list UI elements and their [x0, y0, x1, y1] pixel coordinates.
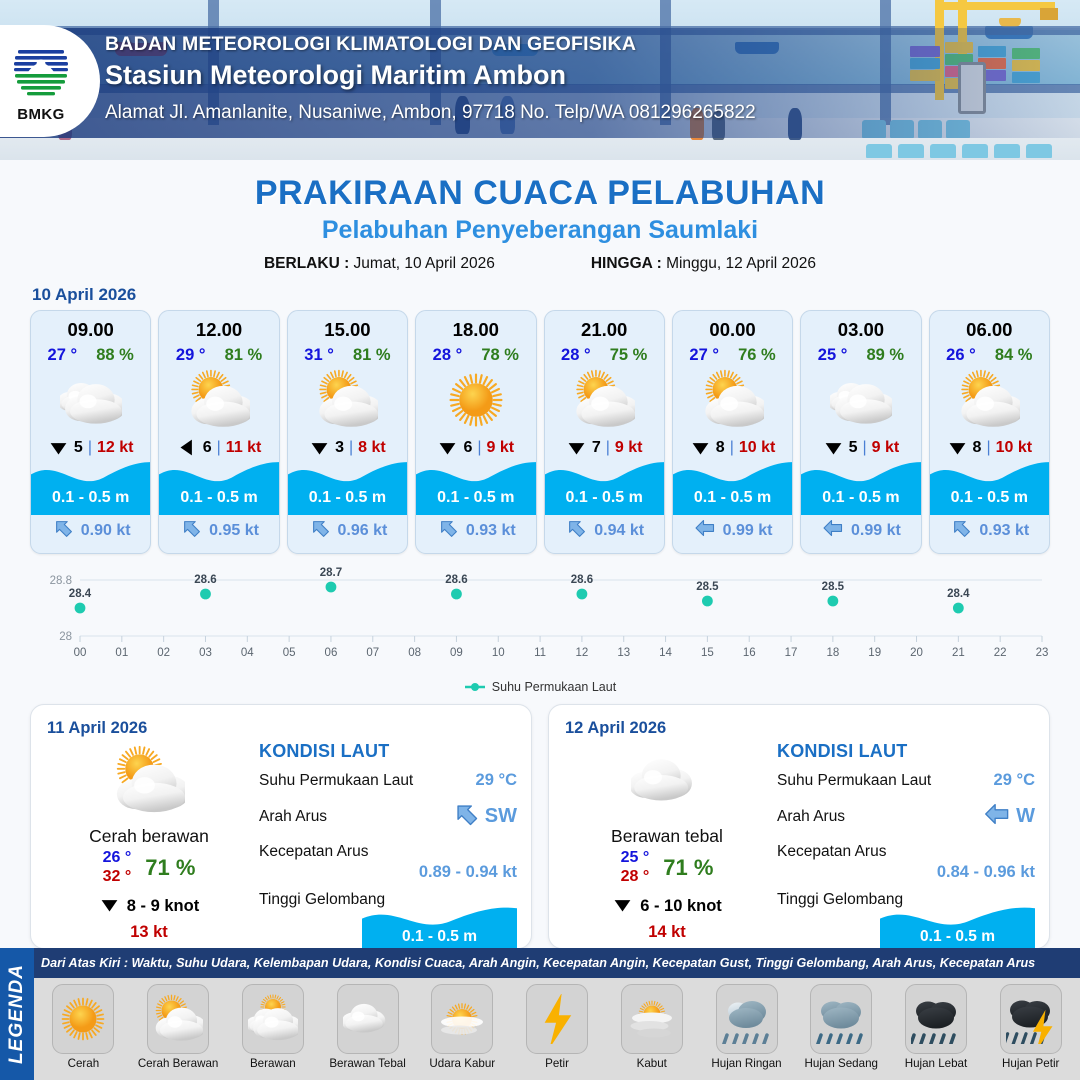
- daily-date: 12 April 2026: [565, 719, 1033, 738]
- hourly-card: 18.00 28 ° 78 % 6 | 9 kt: [415, 310, 536, 554]
- card-current-speed: 0.90 kt: [81, 522, 131, 540]
- card-temperature: 28 °: [561, 346, 591, 365]
- svg-text:28.4: 28.4: [69, 588, 92, 600]
- svg-text:00: 00: [74, 647, 87, 659]
- sst-label: Suhu Permukaan Laut: [777, 772, 931, 790]
- legend-item-label: Hujan Sedang: [804, 1057, 878, 1070]
- card-wind-speed: 7: [592, 439, 601, 457]
- svg-text:07: 07: [366, 647, 379, 659]
- card-temperature: 28 °: [433, 346, 463, 365]
- current-direction-arrow-icon: [693, 516, 717, 545]
- daily-temp-column: 25 ° 28 °: [621, 849, 650, 887]
- card-temperature: 31 °: [304, 346, 334, 365]
- berlaku-value: Jumat, 10 April 2026: [354, 255, 495, 272]
- legend-item: Cerah: [36, 984, 131, 1070]
- svg-text:20: 20: [910, 647, 923, 659]
- sst-chart-legend: Suhu Permukaan Laut: [0, 680, 1080, 694]
- svg-text:10: 10: [492, 647, 505, 659]
- card-weather-berawan-icon: [801, 369, 920, 431]
- current-speed-label: Kecepatan Arus: [259, 843, 368, 861]
- hourly-card: 00.00 27 ° 76 % 8: [672, 310, 793, 554]
- daily-sea-conditions: KONDISI LAUT Suhu Permukaan Laut 29 °C A…: [259, 741, 517, 955]
- card-gust-speed: 10 kt: [996, 439, 1032, 457]
- legend-berawan-sun-icon: [242, 984, 304, 1054]
- hourly-card: 03.00 25 ° 89 %: [800, 310, 921, 554]
- bmkg-logo-text: BMKG: [17, 106, 64, 123]
- daily-condition: Berawan tebal: [567, 826, 767, 847]
- card-current-speed: 0.93 kt: [979, 522, 1029, 540]
- legend-note-bar: Dari Atas Kiri : Waktu, Suhu Udara, Kele…: [34, 948, 1080, 978]
- card-wave-height: 0.1 - 0.5 m: [416, 489, 535, 507]
- current-speed-value: 0.84 - 0.96 kt: [777, 863, 1035, 882]
- svg-text:15: 15: [701, 647, 714, 659]
- card-wave-height: 0.1 - 0.5 m: [930, 489, 1049, 507]
- card-wind-speed: 8: [716, 439, 725, 457]
- daily-panel: 12 April 2026 Berawan tebal 25 °: [548, 704, 1050, 949]
- current-direction-arrow-icon: [308, 516, 332, 545]
- wind-direction-arrow-icon: [612, 894, 633, 920]
- svg-text:28.4: 28.4: [947, 588, 970, 600]
- svg-text:09: 09: [450, 647, 463, 659]
- card-wind-row: 8 | 10 kt: [673, 437, 792, 458]
- card-weather-cerah-berawan-icon: [545, 369, 664, 431]
- daily-wave-height-value: 0.1 - 0.5 m: [362, 928, 517, 946]
- wind-direction-arrow-icon: [823, 437, 844, 458]
- current-direction-value-group: SW: [451, 799, 517, 834]
- daily-wind-row: 6 - 10 knot: [567, 894, 767, 920]
- card-time: 06.00: [930, 319, 1049, 341]
- card-wind-separator: |: [606, 439, 610, 457]
- card-weather-cerah-icon: [416, 369, 535, 431]
- seat-illustration: [1026, 144, 1052, 158]
- card-time: 18.00: [416, 319, 535, 341]
- card-wind-separator: |: [730, 439, 734, 457]
- svg-text:08: 08: [408, 647, 421, 659]
- current-speed-label: Kecepatan Arus: [777, 843, 886, 861]
- legend-item-label: Petir: [545, 1057, 569, 1070]
- card-current-row: 0.99 kt: [801, 516, 920, 545]
- daily-weather-berawan-tebal-icon: [567, 745, 767, 822]
- legend-item-label: Udara Kabur: [429, 1057, 495, 1070]
- card-current-row: 0.93 kt: [930, 516, 1049, 545]
- svg-text:28.6: 28.6: [571, 574, 593, 586]
- card-temp-humidity-row: 26 ° 84 %: [930, 346, 1049, 365]
- card-current-speed: 0.99 kt: [723, 522, 773, 540]
- daily-temp-max: 32 °: [103, 868, 132, 887]
- daily-temp-min: 26 °: [103, 849, 132, 868]
- card-humidity: 76 %: [738, 346, 776, 365]
- svg-text:28.6: 28.6: [194, 574, 216, 586]
- card-wind-speed: 6: [463, 439, 472, 457]
- card-wave-height: 0.1 - 0.5 m: [31, 489, 150, 507]
- seat-illustration: [898, 144, 924, 158]
- card-wind-separator: |: [863, 439, 867, 457]
- card-current-speed: 0.99 kt: [851, 522, 901, 540]
- card-gust-speed: 10 kt: [739, 439, 775, 457]
- svg-text:28.7: 28.7: [320, 567, 342, 579]
- card-current-row: 0.94 kt: [545, 516, 664, 545]
- current-direction-arrow-icon: [436, 516, 460, 545]
- card-wave-height: 0.1 - 0.5 m: [801, 489, 920, 507]
- current-direction-arrow-icon: [564, 516, 588, 545]
- sst-chart: 28.8280001020304050607080910111213141516…: [28, 566, 1052, 678]
- svg-text:01: 01: [115, 647, 128, 659]
- daily-humidity: 71 %: [145, 855, 195, 881]
- card-weather-cerah-berawan-icon: [159, 369, 278, 431]
- svg-text:28.8: 28.8: [50, 575, 72, 587]
- card-wind-separator: |: [986, 439, 990, 457]
- card-time: 00.00: [673, 319, 792, 341]
- daily-forecast-panels: 11 April 2026 Cerah berawan 26 °: [0, 694, 1080, 949]
- card-current-row: 0.93 kt: [416, 516, 535, 545]
- legend-item-label: Berawan: [250, 1057, 296, 1070]
- card-temperature: 27 °: [689, 346, 719, 365]
- legend-side-label: LEGENDA: [0, 948, 34, 1080]
- legend-item: Kabut: [604, 984, 699, 1070]
- card-temp-humidity-row: 27 ° 76 %: [673, 346, 792, 365]
- svg-text:14: 14: [659, 647, 672, 659]
- card-temperature: 25 °: [818, 346, 848, 365]
- legend-hujan-petir-icon: [1000, 984, 1062, 1054]
- legend-petir-icon: [526, 984, 588, 1054]
- svg-text:28.5: 28.5: [822, 581, 845, 593]
- daily-left-column: Berawan tebal 25 ° 28 ° 71 % 6 - 10 knot…: [567, 745, 767, 942]
- seat-illustration: [994, 144, 1020, 158]
- svg-text:13: 13: [617, 647, 630, 659]
- hourly-date-label: 10 April 2026: [32, 285, 1080, 305]
- card-weather-berawan-icon: [31, 369, 150, 431]
- card-wind-speed: 5: [849, 439, 858, 457]
- card-humidity: 88 %: [96, 346, 134, 365]
- legend-hujan-sedang-icon: [810, 984, 872, 1054]
- card-wind-row: 8 | 10 kt: [930, 437, 1049, 458]
- sst-row: Suhu Permukaan Laut 29 °C: [777, 771, 1035, 790]
- seat-illustration: [930, 144, 956, 158]
- card-gust-speed: 9 kt: [615, 439, 643, 457]
- legend-item: Berawan: [225, 984, 320, 1070]
- legend-item-label: Kabut: [637, 1057, 667, 1070]
- current-speed-row: Kecepatan Arus: [777, 843, 1035, 861]
- card-time: 12.00: [159, 319, 278, 341]
- card-humidity: 75 %: [610, 346, 648, 365]
- card-current-row: 0.99 kt: [673, 516, 792, 545]
- legend-berawan-tebal-icon: [337, 984, 399, 1054]
- daily-gust: 13 kt: [49, 923, 249, 942]
- card-current-row: 0.96 kt: [288, 516, 407, 545]
- wind-direction-arrow-icon: [309, 437, 330, 458]
- hingga-label: HINGGA :: [591, 255, 662, 272]
- berlaku-label: BERLAKU :: [264, 255, 349, 272]
- card-gust-speed: 12 kt: [97, 439, 133, 457]
- card-wind-speed: 8: [973, 439, 982, 457]
- svg-text:21: 21: [952, 647, 965, 659]
- current-direction-value: W: [1016, 805, 1035, 828]
- card-wind-row: 6 | 9 kt: [416, 437, 535, 458]
- card-wind-speed: 3: [335, 439, 344, 457]
- card-humidity: 81 %: [353, 346, 391, 365]
- svg-text:11: 11: [534, 647, 546, 659]
- svg-text:04: 04: [241, 647, 254, 659]
- svg-text:17: 17: [785, 647, 798, 659]
- hourly-card: 12.00 29 ° 81 % 6: [158, 310, 279, 554]
- daily-temp-humidity-row: 25 ° 28 ° 71 %: [567, 849, 767, 887]
- card-wind-row: 6 | 11 kt: [159, 437, 278, 458]
- sst-chart-svg: 28.8280001020304050607080910111213141516…: [28, 566, 1052, 678]
- card-wave-height: 0.1 - 0.5 m: [288, 489, 407, 507]
- daily-weather-cerah-berawan-icon: [49, 745, 249, 822]
- berlaku-group: BERLAKU : Jumat, 10 April 2026: [264, 255, 495, 273]
- card-gust-speed: 8 kt: [358, 439, 386, 457]
- sst-value: 29 °C: [476, 771, 517, 790]
- legend-item: Cerah Berawan: [131, 984, 226, 1070]
- current-direction-arrow-icon: [51, 516, 75, 545]
- current-direction-label: Arah Arus: [777, 808, 845, 826]
- page-title: PRAKIRAAN CUACA PELABUHAN: [0, 174, 1080, 213]
- legend-udara-kabur-icon: [431, 984, 493, 1054]
- card-temperature: 26 °: [946, 346, 976, 365]
- svg-text:28.6: 28.6: [445, 574, 467, 586]
- legend-item-label: Berawan Tebal: [329, 1057, 406, 1070]
- card-humidity: 89 %: [866, 346, 904, 365]
- card-time: 03.00: [801, 319, 920, 341]
- current-direction-arrow-icon: [949, 516, 973, 545]
- svg-text:18: 18: [826, 647, 839, 659]
- current-direction-arrow-icon: [982, 799, 1012, 834]
- legend-cerah-berawan-icon: [147, 984, 209, 1054]
- card-wind-separator: |: [349, 439, 353, 457]
- station-name: Stasiun Meteorologi Maritim Ambon: [105, 60, 566, 91]
- card-temp-humidity-row: 29 ° 81 %: [159, 346, 278, 365]
- sst-label: Suhu Permukaan Laut: [259, 772, 413, 790]
- seat-illustration: [962, 144, 988, 158]
- hourly-card: 09.00 27 ° 88 %: [30, 310, 151, 554]
- daily-temp-min: 25 °: [621, 849, 650, 868]
- hourly-card: 21.00 28 ° 75 % 7: [544, 310, 665, 554]
- current-direction-value: SW: [485, 805, 517, 828]
- hourly-forecast-cards: 09.00 27 ° 88 %: [0, 310, 1080, 554]
- legend-item: Berawan Tebal: [320, 984, 415, 1070]
- daily-sea-conditions: KONDISI LAUT Suhu Permukaan Laut 29 °C A…: [777, 741, 1035, 955]
- daily-wind-row: 8 - 9 knot: [49, 894, 249, 920]
- validity-row: BERLAKU : Jumat, 10 April 2026 HINGGA : …: [0, 255, 1080, 273]
- current-direction-label: Arah Arus: [259, 808, 327, 826]
- legend-item: Udara Kabur: [415, 984, 510, 1070]
- daily-wave-height-value: 0.1 - 0.5 m: [880, 928, 1035, 946]
- svg-text:28: 28: [59, 631, 72, 643]
- legend-items: Cerah Cerah Berawan: [34, 978, 1080, 1080]
- daily-gust: 14 kt: [567, 923, 767, 942]
- wind-direction-arrow-icon: [437, 437, 458, 458]
- daily-left-column: Cerah berawan 26 ° 32 ° 71 % 8 - 9 knot …: [49, 745, 249, 942]
- sst-legend-label: Suhu Permukaan Laut: [492, 680, 616, 694]
- legend-item: Petir: [510, 984, 605, 1070]
- legend-item: Hujan Lebat: [889, 984, 984, 1070]
- wind-direction-arrow-icon: [177, 437, 198, 458]
- legend-kabut-icon: [621, 984, 683, 1054]
- legend-item-label: Cerah: [68, 1057, 100, 1070]
- card-gust-speed: 9 kt: [487, 439, 515, 457]
- card-current-row: 0.90 kt: [31, 516, 150, 545]
- daily-temp-column: 26 ° 32 °: [103, 849, 132, 887]
- daily-date: 11 April 2026: [47, 719, 515, 738]
- legend-bar: LEGENDA Dari Atas Kiri : Waktu, Suhu Uda…: [0, 948, 1080, 1080]
- card-temp-humidity-row: 27 ° 88 %: [31, 346, 150, 365]
- wind-direction-arrow-icon: [566, 437, 587, 458]
- card-current-speed: 0.93 kt: [466, 522, 516, 540]
- hourly-card: 15.00 31 ° 81 % 3: [287, 310, 408, 554]
- card-current-speed: 0.94 kt: [594, 522, 644, 540]
- svg-text:03: 03: [199, 647, 212, 659]
- sea-conditions-title: KONDISI LAUT: [259, 741, 517, 762]
- svg-text:06: 06: [325, 647, 338, 659]
- daily-condition: Cerah berawan: [49, 826, 249, 847]
- card-wind-row: 5 | 12 kt: [31, 437, 150, 458]
- card-wind-row: 3 | 8 kt: [288, 437, 407, 458]
- daily-temp-humidity-row: 26 ° 32 ° 71 %: [49, 849, 249, 887]
- card-wave-height: 0.1 - 0.5 m: [545, 489, 664, 507]
- hingga-group: HINGGA : Minggu, 12 April 2026: [591, 255, 816, 273]
- card-temperature: 29 °: [176, 346, 206, 365]
- card-time: 21.00: [545, 319, 664, 341]
- station-address: Alamat Jl. Amanlanite, Nusaniwe, Ambon, …: [105, 102, 756, 124]
- current-speed-row: Kecepatan Arus: [259, 843, 517, 861]
- wind-direction-arrow-icon: [48, 437, 69, 458]
- current-speed-value: 0.89 - 0.94 kt: [259, 863, 517, 882]
- card-gust-speed: 9 kt: [872, 439, 900, 457]
- current-direction-arrow-icon: [179, 516, 203, 545]
- daily-wind-range: 8 - 9 knot: [127, 897, 199, 916]
- current-direction-row: Arah Arus SW: [259, 799, 517, 834]
- legend-hujan-lebat-icon: [905, 984, 967, 1054]
- card-wave-height: 0.1 - 0.5 m: [159, 489, 278, 507]
- card-wind-separator: |: [477, 439, 481, 457]
- crane-illustration: [1040, 8, 1058, 20]
- legend-item: Hujan Petir: [983, 984, 1078, 1070]
- daily-wind-range: 6 - 10 knot: [640, 897, 722, 916]
- card-wind-row: 5 | 9 kt: [801, 437, 920, 458]
- page-header: BMKG BADAN METEOROLOGI KLIMATOLOGI DAN G…: [0, 0, 1080, 160]
- wind-direction-arrow-icon: [690, 437, 711, 458]
- bmkg-emblem-icon: [8, 39, 74, 105]
- daily-humidity: 71 %: [663, 855, 713, 881]
- legend-item: Hujan Ringan: [699, 984, 794, 1070]
- current-direction-value-group: W: [982, 799, 1035, 834]
- current-direction-arrow-icon: [451, 799, 481, 834]
- legend-item-label: Hujan Ringan: [711, 1057, 781, 1070]
- legend-cerah-icon: [52, 984, 114, 1054]
- card-time: 15.00: [288, 319, 407, 341]
- card-wind-row: 7 | 9 kt: [545, 437, 664, 458]
- card-temp-humidity-row: 31 ° 81 %: [288, 346, 407, 365]
- card-humidity: 78 %: [481, 346, 519, 365]
- card-wind-speed: 5: [74, 439, 83, 457]
- card-wave-height: 0.1 - 0.5 m: [673, 489, 792, 507]
- legend-note: Dari Atas Kiri : Waktu, Suhu Udara, Kele…: [34, 956, 1035, 970]
- sst-row: Suhu Permukaan Laut 29 °C: [259, 771, 517, 790]
- svg-text:22: 22: [994, 647, 1007, 659]
- legend-item: Hujan Sedang: [794, 984, 889, 1070]
- card-temp-humidity-row: 28 ° 78 %: [416, 346, 535, 365]
- card-wind-speed: 6: [203, 439, 212, 457]
- card-temp-humidity-row: 25 ° 89 %: [801, 346, 920, 365]
- legend-item-label: Hujan Petir: [1002, 1057, 1059, 1070]
- svg-text:16: 16: [743, 647, 756, 659]
- card-weather-cerah-berawan-icon: [673, 369, 792, 431]
- current-direction-arrow-icon: [821, 516, 845, 545]
- legend-item-label: Hujan Lebat: [905, 1057, 968, 1070]
- sst-legend-marker-icon: [464, 681, 486, 693]
- crane-illustration: [935, 2, 1055, 10]
- seat-illustration: [866, 144, 892, 158]
- card-temperature: 27 °: [48, 346, 78, 365]
- card-temp-humidity-row: 28 ° 75 %: [545, 346, 664, 365]
- card-weather-cerah-berawan-icon: [288, 369, 407, 431]
- legend-hujan-ringan-icon: [716, 984, 778, 1054]
- svg-text:19: 19: [868, 647, 881, 659]
- card-humidity: 84 %: [995, 346, 1033, 365]
- svg-text:28.5: 28.5: [696, 581, 719, 593]
- svg-text:05: 05: [283, 647, 296, 659]
- sea-conditions-title: KONDISI LAUT: [777, 741, 1035, 762]
- daily-temp-max: 28 °: [621, 868, 650, 887]
- card-gust-speed: 11 kt: [226, 439, 262, 457]
- card-time: 09.00: [31, 319, 150, 341]
- page-subtitle: Pelabuhan Penyeberangan Saumlaki: [0, 216, 1080, 245]
- card-wind-separator: |: [217, 439, 221, 457]
- wind-direction-arrow-icon: [947, 437, 968, 458]
- current-direction-row: Arah Arus W: [777, 799, 1035, 834]
- hingga-value: Minggu, 12 April 2026: [666, 255, 816, 272]
- legend-item-label: Cerah Berawan: [138, 1057, 219, 1070]
- card-current-speed: 0.95 kt: [209, 522, 259, 540]
- card-weather-cerah-berawan-icon: [930, 369, 1049, 431]
- svg-text:23: 23: [1036, 647, 1049, 659]
- svg-text:12: 12: [576, 647, 589, 659]
- wind-direction-arrow-icon: [99, 894, 120, 920]
- card-current-row: 0.95 kt: [159, 516, 278, 545]
- svg-text:02: 02: [157, 647, 170, 659]
- card-humidity: 81 %: [225, 346, 263, 365]
- card-current-speed: 0.96 kt: [338, 522, 388, 540]
- sst-value: 29 °C: [994, 771, 1035, 790]
- hourly-card: 06.00 26 ° 84 % 8: [929, 310, 1050, 554]
- daily-panel: 11 April 2026 Cerah berawan 26 °: [30, 704, 532, 949]
- legend-side-text: LEGENDA: [6, 964, 28, 1064]
- agency-name: BADAN METEOROLOGI KLIMATOLOGI DAN GEOFIS…: [105, 33, 636, 56]
- card-wind-separator: |: [88, 439, 92, 457]
